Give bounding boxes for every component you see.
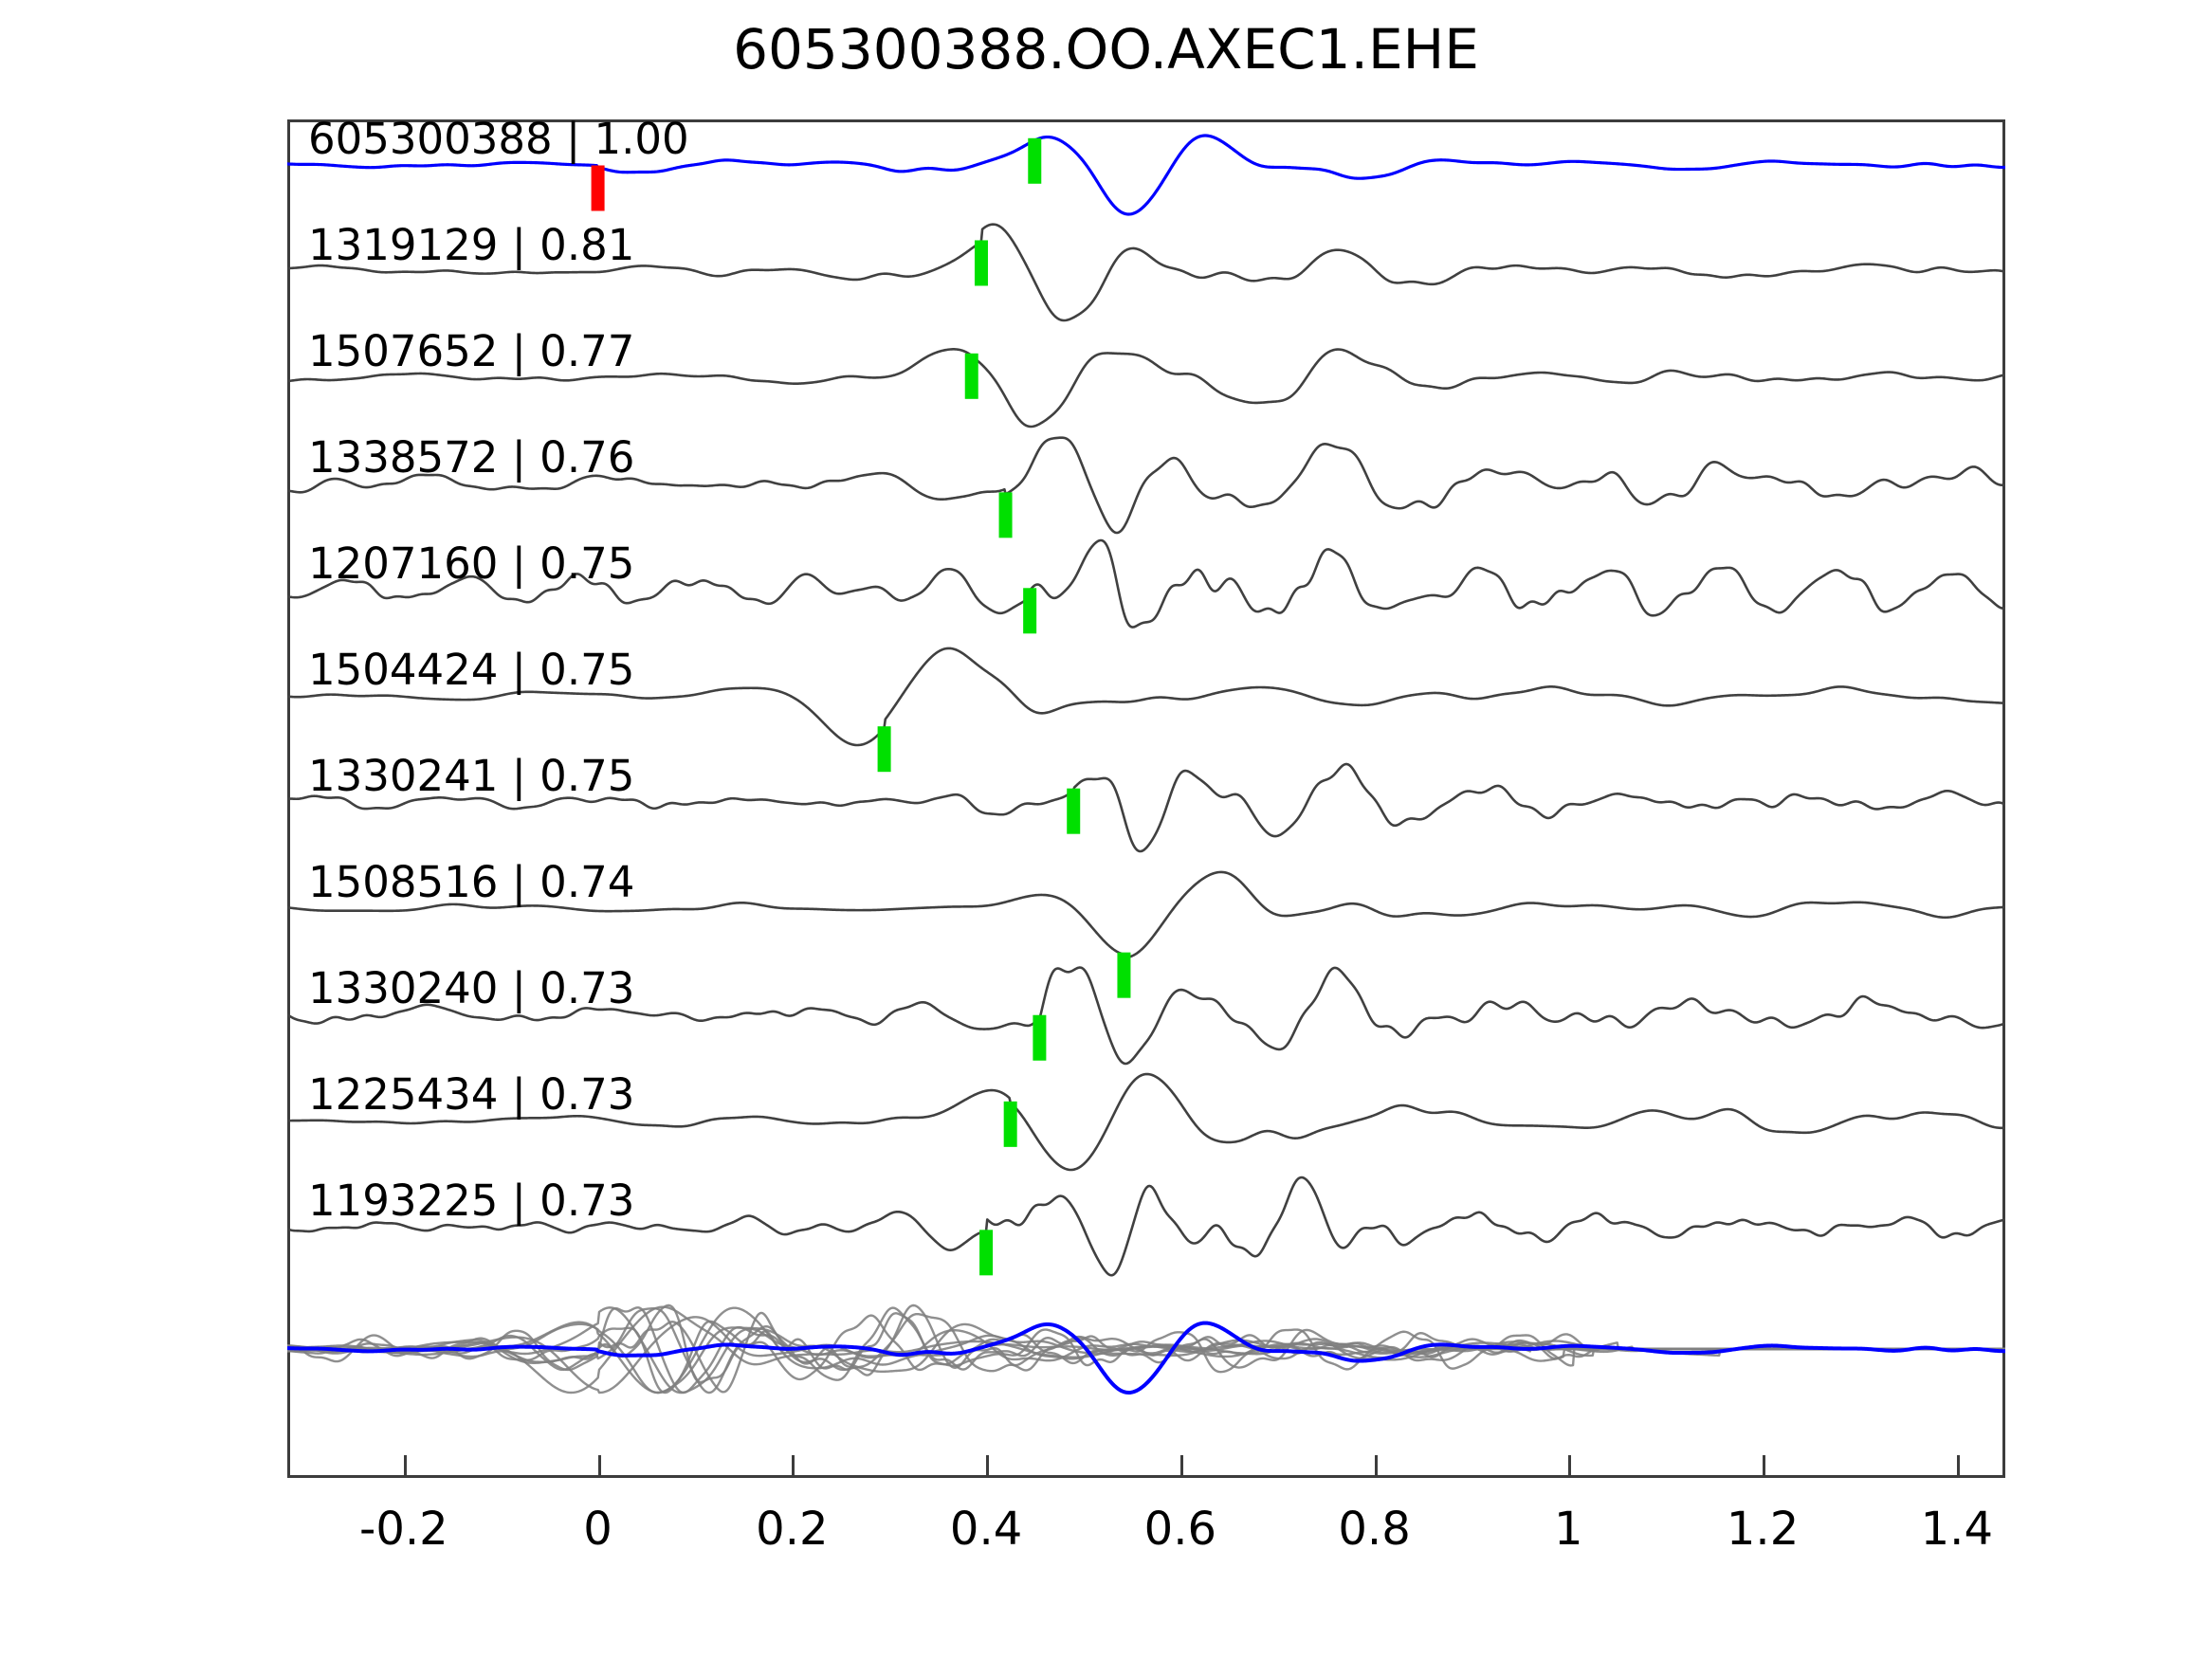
trace-line: [287, 872, 2005, 957]
match-pick-marker: [999, 492, 1013, 538]
waveform-trace: [287, 1074, 2005, 1170]
x-tick-mark: [1763, 1455, 1765, 1476]
match-pick-marker: [975, 240, 988, 285]
trace-line: [287, 225, 2005, 320]
waveform-trace: [287, 1177, 2005, 1275]
x-tick-label: -0.2: [359, 1503, 448, 1556]
template-pick-marker: [592, 165, 605, 210]
waveform-trace: [287, 349, 2005, 427]
waveform-trace: [287, 136, 2005, 214]
match-pick-marker: [878, 726, 891, 772]
page-title: 605300388.OO.AXEC1.EHE: [0, 17, 2212, 82]
waveform-trace: [287, 540, 2005, 633]
waveform-trace: [287, 872, 2005, 998]
x-tick-label: 0.2: [756, 1503, 828, 1556]
match-pick-marker: [1033, 1015, 1046, 1061]
x-tick-mark: [404, 1455, 407, 1476]
x-tick-mark: [1568, 1455, 1571, 1476]
stacked-overlay: [287, 1305, 2005, 1393]
x-tick-label: 0.6: [1144, 1503, 1216, 1556]
match-pick-marker: [1023, 588, 1036, 633]
x-tick-mark: [792, 1455, 795, 1476]
x-tick-mark: [1375, 1455, 1378, 1476]
trace-line: [287, 648, 2005, 745]
plot-area: [287, 119, 2005, 1478]
trace-line: [287, 349, 2005, 427]
trace-line: [287, 968, 2005, 1064]
trace-line: [287, 438, 2005, 533]
waveform-trace: [287, 764, 2005, 851]
waveform-trace: [287, 225, 2005, 320]
x-tick-label: 1.4: [1921, 1503, 1993, 1556]
x-tick-label: 1: [1554, 1503, 1583, 1556]
match-pick-marker: [1004, 1102, 1017, 1147]
waveform-trace: [287, 968, 2005, 1064]
trace-line: [287, 1177, 2005, 1275]
trace-line: [287, 136, 2005, 214]
trace-line: [287, 1074, 2005, 1170]
x-tick-label: 0.8: [1338, 1503, 1410, 1556]
waveform-trace: [287, 648, 2005, 772]
x-tick-label: 0: [583, 1503, 612, 1556]
x-tick-mark: [1957, 1455, 1960, 1476]
x-tick-label: 1.2: [1727, 1503, 1799, 1556]
trace-line: [287, 764, 2005, 851]
trace-line: [287, 540, 2005, 628]
x-tick-mark: [1180, 1455, 1183, 1476]
x-tick-mark: [598, 1455, 601, 1476]
x-tick-mark: [986, 1455, 989, 1476]
waveform-trace: [287, 438, 2005, 538]
match-pick-marker: [1067, 789, 1080, 834]
x-tick-label: 0.4: [950, 1503, 1022, 1556]
match-pick-marker: [1117, 953, 1130, 998]
waveform-canvas: [287, 119, 2005, 1478]
match-pick-marker: [979, 1230, 993, 1275]
match-pick-marker: [965, 354, 978, 399]
template-secondary-pick-marker: [1028, 138, 1041, 184]
seismic-waveform-figure: 605300388.OO.AXEC1.EHE 605300388 | 1.001…: [0, 0, 2212, 1659]
overlay-trace-line: [287, 1305, 2005, 1382]
